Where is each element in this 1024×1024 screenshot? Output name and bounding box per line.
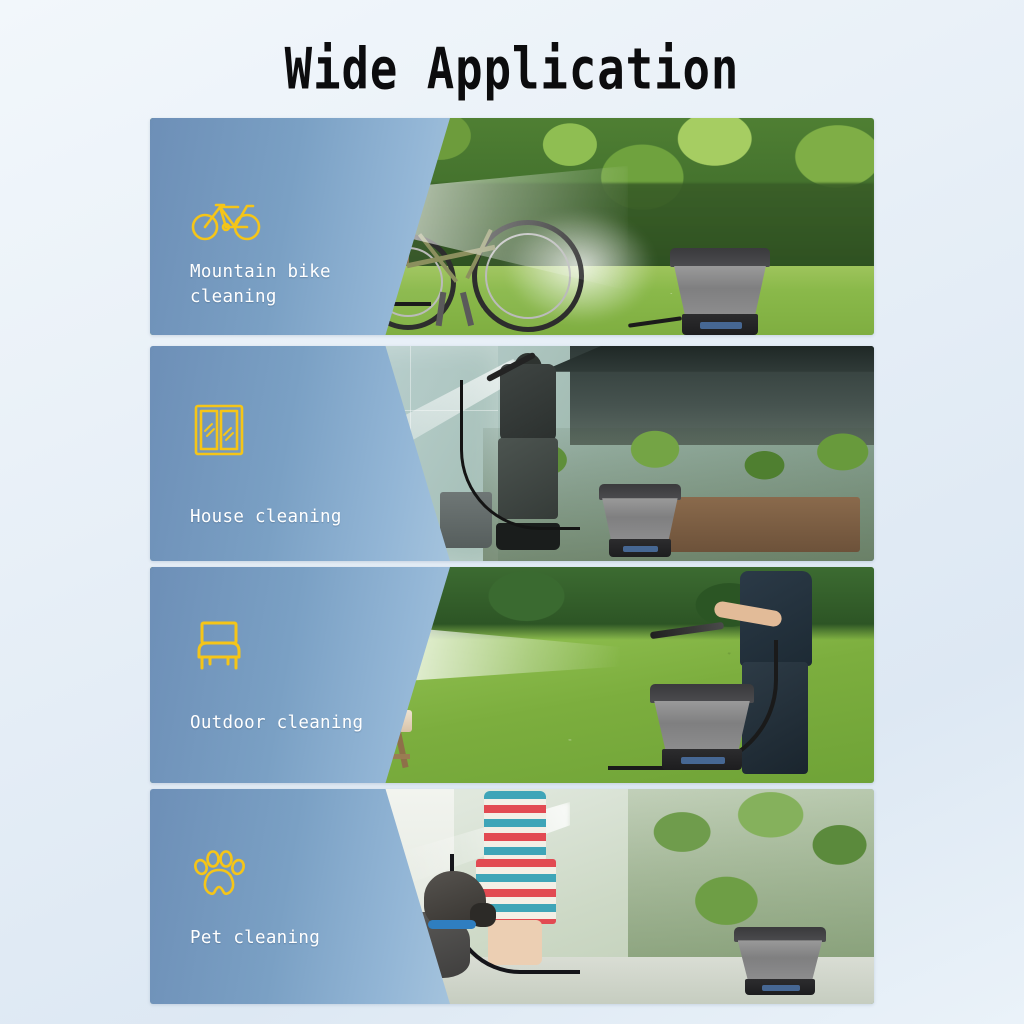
- panel-outdoor-cleaning: Outdoor cleaning: [150, 567, 874, 783]
- bucket-lid: [599, 484, 681, 500]
- bucket-control-panel: [762, 985, 801, 991]
- bucket-body: [738, 940, 823, 980]
- bucket-lid: [650, 684, 754, 703]
- dog-collar: [428, 920, 476, 929]
- bucket-lid: [670, 248, 770, 267]
- person-washing-house: [490, 357, 570, 551]
- label-text: Pet cleaning: [190, 926, 390, 951]
- panel-pet-cleaning: Pet cleaning: [150, 789, 874, 1004]
- label-text: Mountain bike cleaning: [190, 260, 390, 310]
- bucket-control-panel: [700, 322, 742, 329]
- portable-cleaner-bucket: [650, 684, 754, 770]
- panel-house-cleaning: House cleaning: [150, 346, 874, 561]
- bucket-lid: [734, 927, 826, 942]
- label-text: House cleaning: [190, 505, 390, 530]
- bucket-control-panel: [681, 757, 725, 764]
- page-title: Wide Application: [15, 36, 1008, 103]
- label-text: Outdoor cleaning: [190, 711, 390, 736]
- chair-icon: [190, 617, 248, 675]
- window-icon: [190, 401, 248, 459]
- portable-cleaner-bucket: [599, 484, 681, 557]
- bucket-control-panel: [623, 546, 657, 552]
- paw-icon: [190, 847, 248, 905]
- bicycle-icon: [190, 194, 262, 242]
- portable-cleaner-bucket: [670, 248, 770, 335]
- girl-striped-top: [484, 791, 546, 863]
- bucket-body: [654, 701, 750, 751]
- infographic-page: Wide Application: [0, 0, 1024, 1024]
- bucket-body: [674, 266, 766, 316]
- portable-cleaner-bucket: [734, 927, 826, 996]
- bucket-body: [602, 498, 677, 540]
- bike-stand-leg-2: [460, 292, 474, 326]
- panel-mountain-bike-cleaning: Mountain bike cleaning: [150, 118, 874, 335]
